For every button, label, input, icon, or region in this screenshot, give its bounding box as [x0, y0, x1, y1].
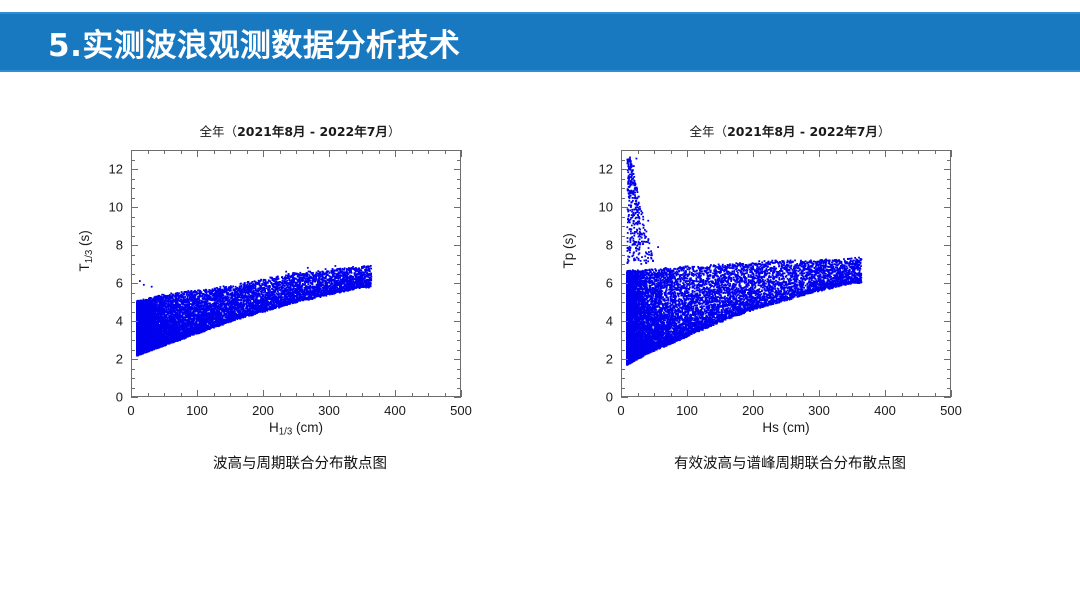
chart-title-left: 全年（2021年8月 - 2022年7月） [60, 122, 540, 142]
scatter-points-left [132, 151, 460, 396]
chart-title-left-suffix: ） [388, 124, 401, 139]
plot-area-left: 0100200300400500 024681012 H1/3 (cm) T1/… [60, 142, 540, 442]
y-axis-label-left-unit: (s) [77, 230, 92, 250]
scatter-points-right [622, 151, 950, 396]
x-tick-label: 300 [808, 403, 830, 418]
figure-wave-height-period: 全年（2021年8月 - 2022年7月） 0100200300400500 0… [60, 122, 540, 442]
x-tick-label: 500 [450, 403, 472, 418]
y-axis-label-left: T1/3 (s) [77, 181, 95, 321]
y-tick-label: 6 [91, 276, 123, 291]
y-tick-label: 10 [91, 200, 123, 215]
chart-title-right: 全年（2021年8月 - 2022年7月） [550, 122, 1030, 142]
figure-caption-left: 波高与周期联合分布散点图 [60, 452, 540, 473]
chart-title-right-range: 2021年8月 - 2022年7月 [727, 124, 878, 139]
figure-caption-right: 有效波高与谱峰周期联合分布散点图 [550, 452, 1030, 473]
plot-box-left [131, 150, 461, 397]
x-tick-label: 400 [874, 403, 896, 418]
page-title: 5.实测波浪观测数据分析技术 [48, 20, 460, 65]
x-tick-label: 200 [742, 403, 764, 418]
y-tick-label: 0 [581, 390, 613, 405]
x-axis-label-left-sub: 1/3 [279, 427, 293, 438]
x-tick-label: 100 [186, 403, 208, 418]
x-tick-label: 0 [127, 403, 134, 418]
y-tick-label: 12 [581, 162, 613, 177]
y-axis-label-left-sub: 1/3 [84, 250, 95, 264]
y-tick-label: 8 [91, 238, 123, 253]
x-axis-label-left: H1/3 (cm) [131, 420, 461, 438]
x-axis-label-left-unit: (cm) [292, 420, 323, 435]
y-axis-label-right-main: Tp [561, 253, 576, 269]
chart-title-right-suffix: ） [878, 124, 891, 139]
chart-title-right-prefix: 全年（ [690, 124, 728, 139]
chart-title-left-prefix: 全年（ [200, 124, 238, 139]
plot-box-right [621, 150, 951, 397]
y-tick-label: 8 [581, 238, 613, 253]
y-tick-label: 6 [581, 276, 613, 291]
x-tick-label: 300 [318, 403, 340, 418]
y-tick-label: 10 [581, 200, 613, 215]
x-tick-label: 400 [384, 403, 406, 418]
chart-title-left-range: 2021年8月 - 2022年7月 [237, 124, 388, 139]
figure-hs-tp: 全年（2021年8月 - 2022年7月） 0100200300400500 0… [550, 122, 1030, 442]
y-tick-label: 4 [581, 314, 613, 329]
y-tick-label: 4 [91, 314, 123, 329]
slide-header-banner: 5.实测波浪观测数据分析技术 [0, 12, 1080, 72]
x-tick-label: 100 [676, 403, 698, 418]
y-axis-label-left-main: T [77, 263, 92, 271]
x-tick-label: 200 [252, 403, 274, 418]
y-tick-label: 2 [581, 352, 613, 367]
y-tick-label: 0 [91, 390, 123, 405]
y-axis-label-right: Tp (s) [561, 181, 579, 321]
plot-area-right: 0100200300400500 024681012 Hs (cm) Tp (s… [550, 142, 1030, 442]
x-axis-label-right: Hs (cm) [621, 420, 951, 438]
x-axis-label-right-unit: (cm) [779, 420, 810, 435]
slide-content: 全年（2021年8月 - 2022年7月） 0100200300400500 0… [0, 72, 1080, 608]
y-tick-label: 12 [91, 162, 123, 177]
y-axis-label-right-unit: (s) [561, 233, 576, 253]
x-tick-label: 0 [617, 403, 624, 418]
x-axis-label-right-main: Hs [762, 420, 779, 435]
y-tick-label: 2 [91, 352, 123, 367]
x-tick-label: 500 [940, 403, 962, 418]
x-axis-label-left-main: H [269, 420, 279, 435]
